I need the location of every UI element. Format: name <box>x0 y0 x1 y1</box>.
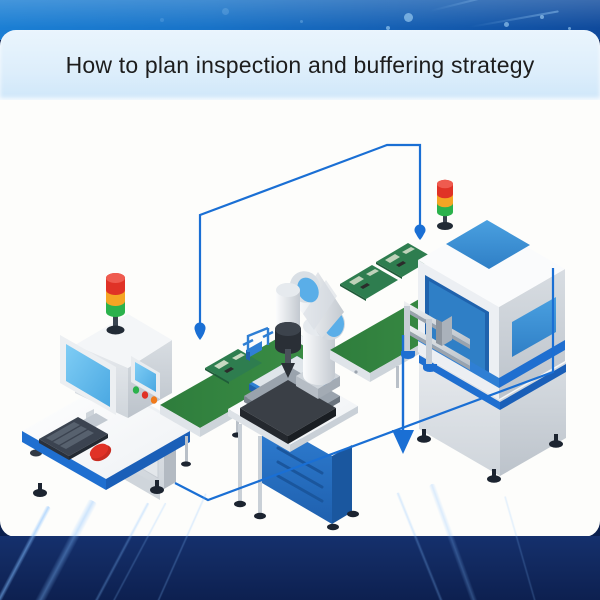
page-title: How to plan inspection and buffering str… <box>0 30 600 100</box>
banner-dot-4 <box>540 15 544 19</box>
operator-workstation <box>22 273 190 500</box>
banner-dot-6 <box>300 20 303 23</box>
banner-dot-3 <box>504 22 509 27</box>
flow-arrow-inbound-tip <box>415 225 426 241</box>
inspection-stack-light <box>437 180 453 230</box>
flow-arrow-inbound-pin <box>195 323 206 341</box>
banner-dot-8 <box>160 18 164 22</box>
production-line-illustration <box>0 100 600 537</box>
inspection-machine <box>401 180 566 483</box>
slide-root: How to plan inspection and buffering str… <box>0 0 600 600</box>
flow-arrow-outbound-head <box>392 430 414 454</box>
bottom-banner <box>0 536 600 600</box>
banner-dot-7 <box>222 8 229 15</box>
banner-dot-1 <box>404 13 413 22</box>
